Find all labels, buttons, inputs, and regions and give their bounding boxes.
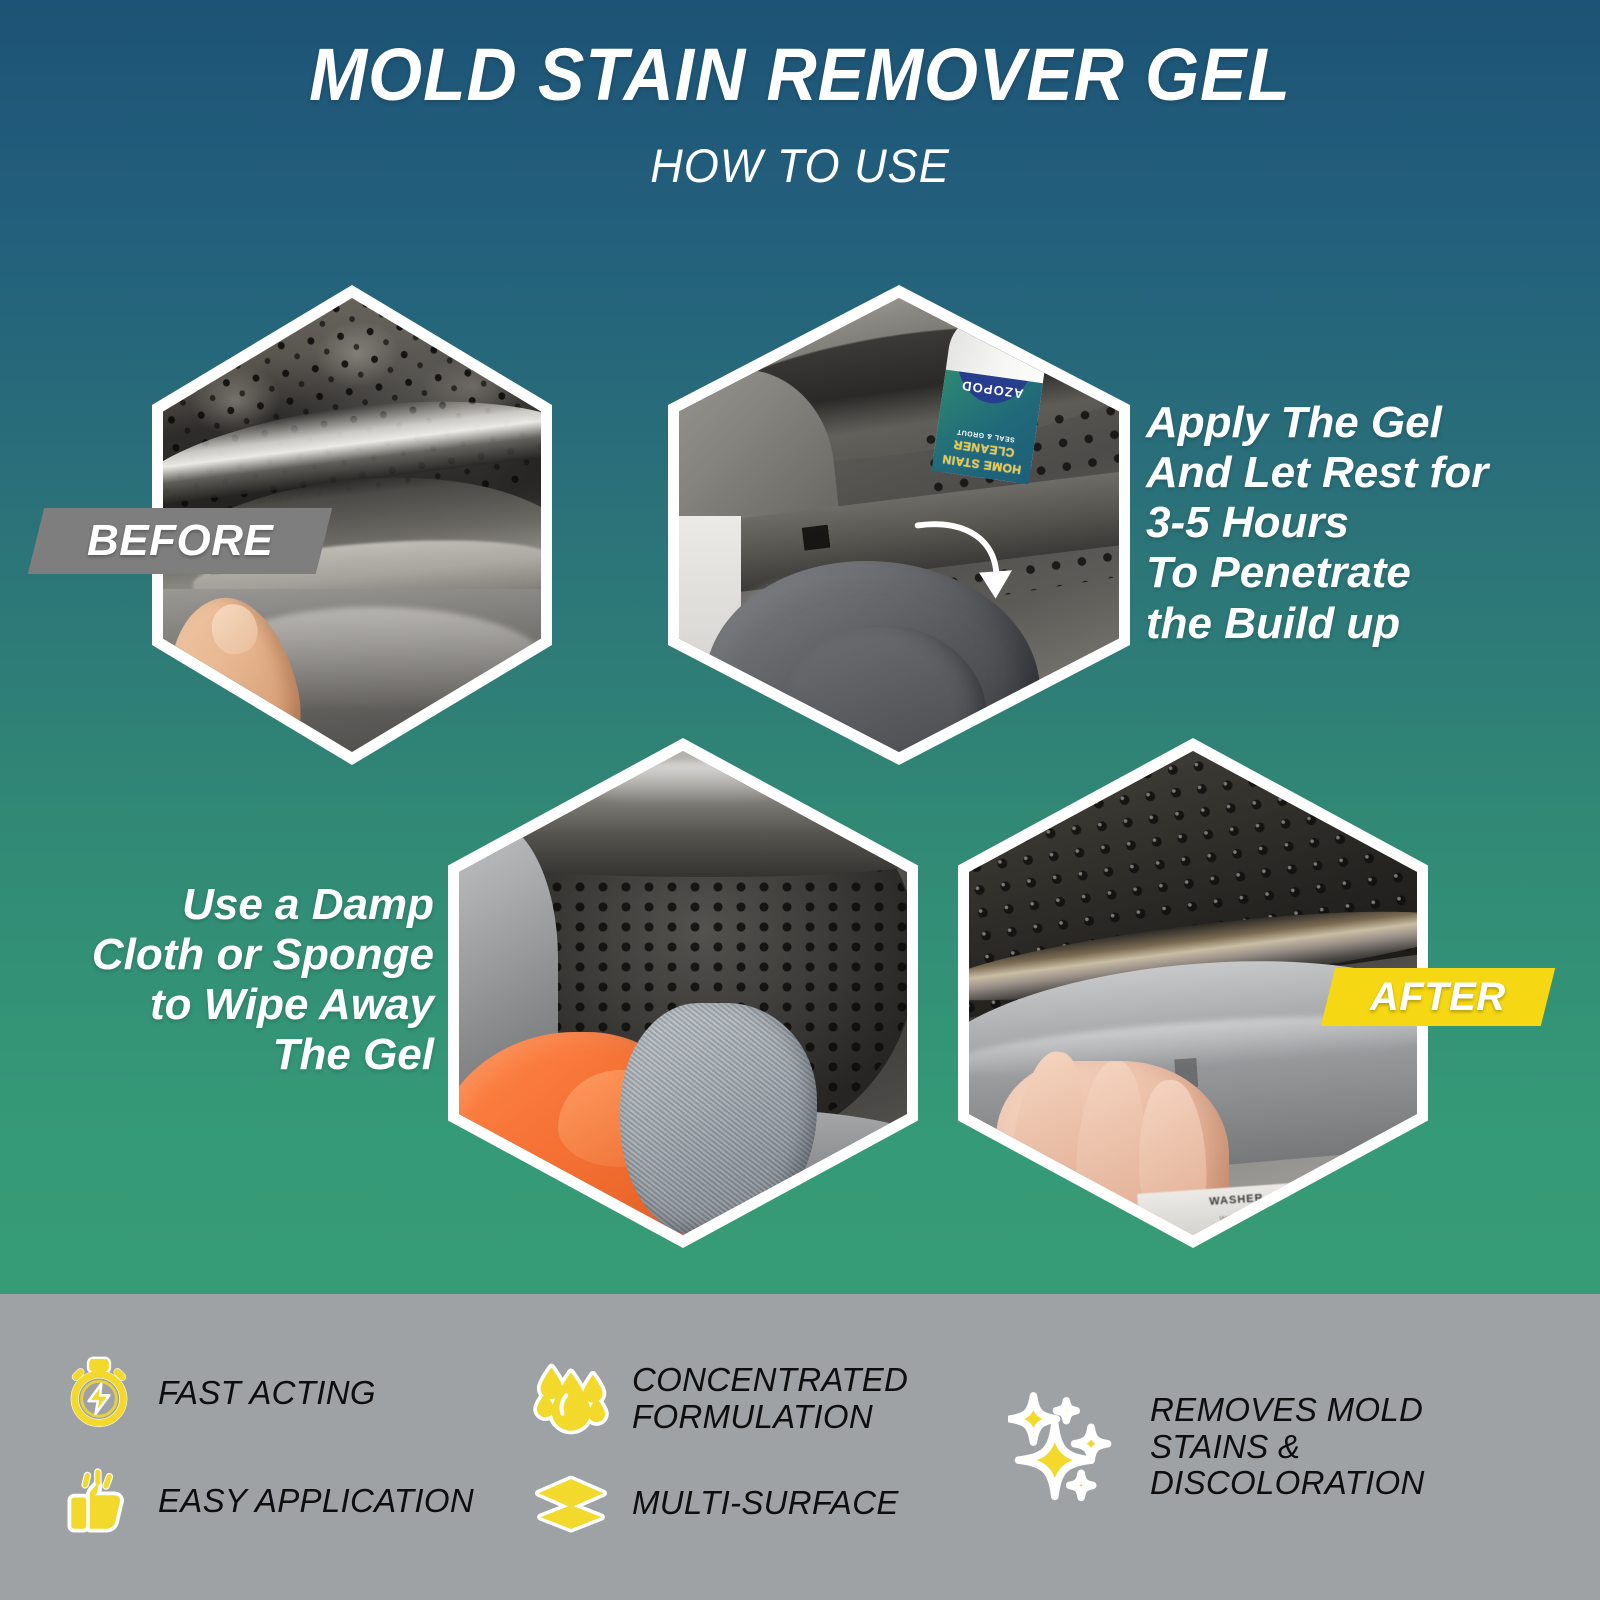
stopwatch-bolt-icon — [62, 1356, 136, 1430]
step-apply-line-4: To Penetrate — [1146, 548, 1566, 598]
feature-label-removes-mold-stains: REMOVES MOLD STAINS & DISCOLORATION — [1150, 1392, 1425, 1503]
feature-label-fast-acting: FAST ACTING — [158, 1375, 376, 1412]
status-badge-before: BEFORE — [28, 508, 332, 574]
sparkles-icon — [1008, 1391, 1128, 1503]
step-apply-line-5: the Build up — [1146, 599, 1566, 649]
step-wipe-line-4: The Gel — [22, 1030, 434, 1080]
thumbs-up-icon — [62, 1464, 136, 1538]
feature-column-2: CONCENTRATED FORMULATION MULTI-SURFA — [520, 1360, 990, 1534]
application-arrow-icon — [908, 516, 1031, 634]
photo-applying-gel: HOME STAIN CLEANER SEAL & GROUT AZOPOD — [679, 298, 1119, 752]
step-wipe-caption: Use a Damp Cloth or Sponge to Wipe Away … — [22, 880, 434, 1081]
step-wipe-line-1: Use a Damp — [22, 880, 434, 930]
feature-column-1: FAST ACTING — [0, 1356, 520, 1538]
step-apply-caption: Apply The Gel And Let Rest for 3-5 Hours… — [1146, 398, 1566, 649]
feature-label-line-3: DISCOLORATION — [1150, 1465, 1425, 1502]
step-wipe-line-2: Cloth or Sponge — [22, 930, 434, 980]
step-apply-photo-frame: HOME STAIN CLEANER SEAL & GROUT AZOPOD — [679, 298, 1119, 752]
feature-column-3: REMOVES MOLD STAINS & DISCOLORATION — [990, 1391, 1570, 1503]
feature-bar: FAST ACTING — [0, 1294, 1600, 1600]
step-wipe-photo-frame — [459, 751, 907, 1235]
step-apply-line-3: 3-5 Hours — [1146, 498, 1566, 548]
bottle-label: HOME STAIN CLEANER SEAL & GROUT AZOPOD — [932, 370, 1043, 484]
feature-label-line-1: REMOVES MOLD — [1150, 1392, 1425, 1429]
header: MOLD STAIN REMOVER GEL HOW TO USE — [0, 0, 1600, 193]
feature-item-easy-application: EASY APPLICATION — [62, 1464, 520, 1538]
page-title: MOLD STAIN REMOVER GEL — [48, 38, 1552, 112]
badge-after-label: AFTER — [1370, 975, 1506, 1020]
badge-before-label: BEFORE — [87, 516, 273, 566]
feature-item-multi-surface: MULTI-SURFACE — [532, 1472, 990, 1534]
feature-label-line-2: STAINS & — [1150, 1429, 1425, 1466]
droplets-icon — [532, 1360, 610, 1438]
feature-label-line-1: CONCENTRATED — [632, 1362, 908, 1399]
step-apply-line-2: And Let Rest for — [1146, 448, 1566, 498]
feature-label-easy-application: EASY APPLICATION — [158, 1483, 474, 1520]
feature-item-concentrated-formulation: CONCENTRATED FORMULATION — [532, 1360, 990, 1438]
page-subtitle: HOW TO USE — [32, 138, 1568, 193]
status-badge-after: AFTER — [1321, 968, 1555, 1026]
photo-wiping-gel — [459, 751, 907, 1235]
infographic-poster: MOLD STAIN REMOVER GEL HOW TO USE — [0, 0, 1600, 1600]
feature-item-fast-acting: FAST ACTING — [62, 1356, 520, 1430]
layers-icon — [532, 1472, 610, 1534]
feature-label-line-2: FORMULATION — [632, 1399, 908, 1436]
feature-label-multi-surface: MULTI-SURFACE — [632, 1485, 899, 1522]
feature-item-removes-mold-stains: REMOVES MOLD STAINS & DISCOLORATION — [1008, 1391, 1570, 1503]
feature-label-concentrated-formulation: CONCENTRATED FORMULATION — [632, 1362, 908, 1436]
step-apply-line-1: Apply The Gel — [1146, 398, 1566, 448]
step-wipe-line-3: to Wipe Away — [22, 980, 434, 1030]
